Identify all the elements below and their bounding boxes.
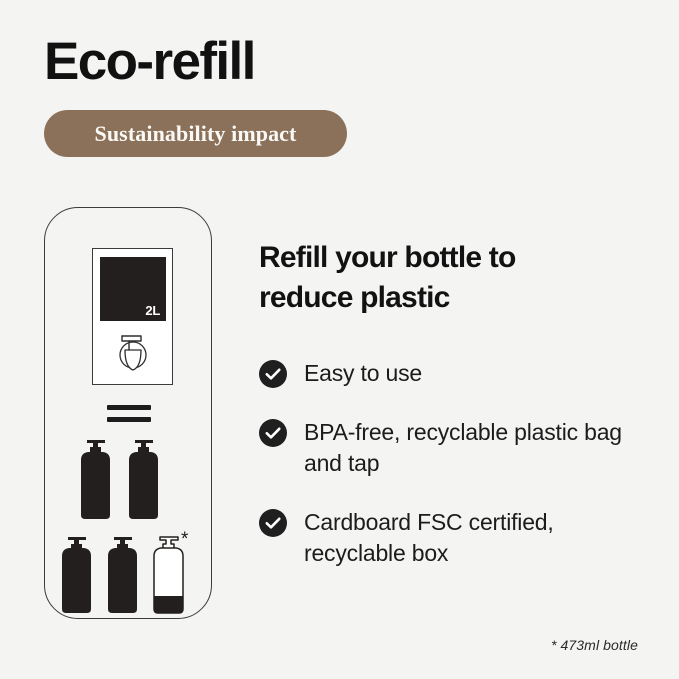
list-item-label: Cardboard FSC certified, recyclable box: [304, 507, 649, 569]
main-heading: Refill your bottle to reduce plastic: [259, 238, 619, 318]
carton-volume-label: 2L: [145, 304, 160, 317]
badge-label: Sustainability impact: [95, 121, 297, 147]
heading-line-2: reduce plastic: [259, 281, 450, 314]
check-circle-icon: [259, 419, 287, 447]
carton-window: 2L: [100, 257, 166, 321]
illustration-panel: 2L: [44, 207, 212, 619]
list-item: Cardboard FSC certified, recyclable box: [259, 507, 649, 569]
bottle-row-top: [77, 437, 162, 522]
check-circle-icon: [259, 360, 287, 388]
filled-bottle-icon: [105, 534, 141, 616]
refill-carton-icon: 2L: [92, 248, 173, 385]
heading-line-1: Refill your bottle to: [259, 241, 516, 274]
asterisk-marker: *: [181, 530, 188, 549]
list-item-label: BPA-free, recyclable plastic bag and tap: [304, 417, 649, 479]
eco-refill-infographic: Eco-refill Sustainability impact 2L: [0, 0, 679, 679]
list-item-label: Easy to use: [304, 358, 422, 389]
filled-bottle-icon: [77, 437, 114, 522]
check-circle-icon: [259, 509, 287, 537]
filled-bottle-icon: [59, 534, 95, 616]
filled-bottle-icon: [125, 437, 162, 522]
page-title: Eco-refill: [44, 33, 255, 91]
status-badge: Sustainability impact: [44, 110, 347, 157]
footnote-text: * 473ml bottle: [551, 637, 638, 653]
equals-symbol-icon: [107, 404, 151, 426]
tap-spout-icon: [110, 329, 156, 373]
equals-bar-bottom: [107, 417, 151, 422]
equals-bar-top: [107, 405, 151, 410]
list-item: Easy to use: [259, 358, 649, 389]
list-item: BPA-free, recyclable plastic bag and tap: [259, 417, 649, 479]
feature-list: Easy to use BPA-free, recyclable plastic…: [259, 358, 649, 569]
bottle-row-bottom: [59, 534, 187, 616]
